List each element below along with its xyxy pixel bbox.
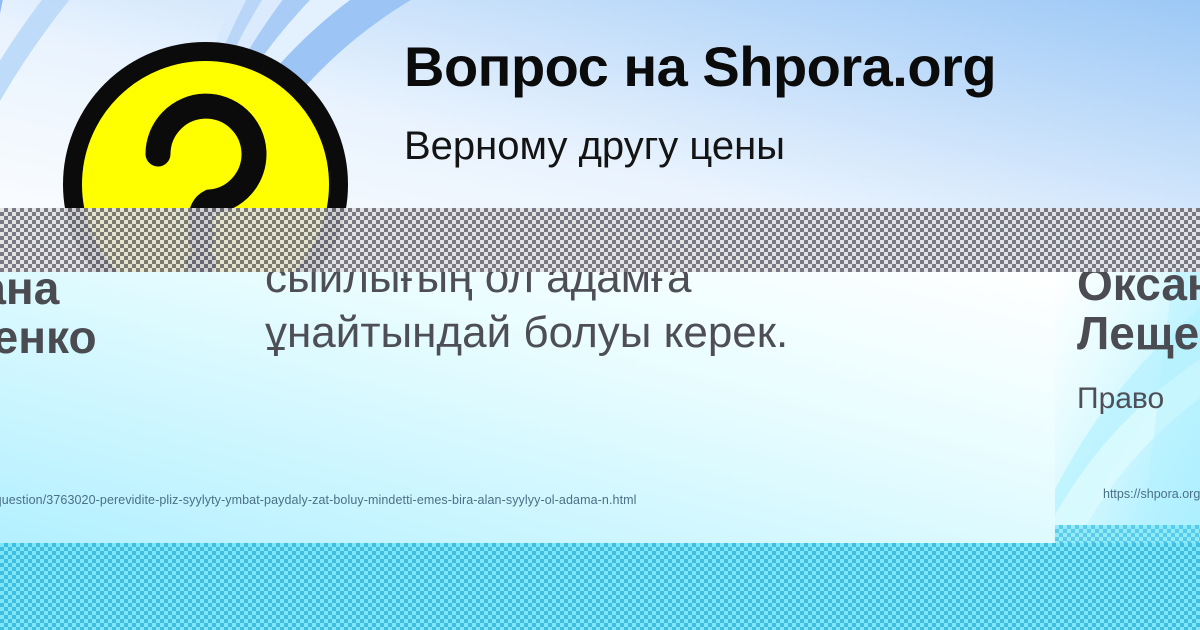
left-author-info: Оксана Лещенко Право xyxy=(0,272,226,418)
left-question-url[interactable]: https://shpora.org/question/3763020-pere… xyxy=(0,493,637,507)
right-author-topic: Право xyxy=(1077,382,1200,416)
right-author-info: Оксана Лещенко Право xyxy=(1077,272,1200,416)
screenshot-stage: Вопрос на Shpora.org Верному другу цены xyxy=(0,0,1200,630)
cyan-transparency-band xyxy=(0,543,1200,630)
question-body-line2: ұнайтындай болуы керек. xyxy=(265,305,1025,360)
question-body-line1: сыйлығың ол адамға xyxy=(265,272,1025,305)
left-author-name-line2: Лещенко xyxy=(0,313,226,362)
right-author-name-line1: Оксана xyxy=(1077,272,1200,309)
page-title: Вопрос на Shpora.org xyxy=(404,38,1164,97)
question-subtitle: Верному другу цены xyxy=(404,123,1164,169)
cyan-band-notch xyxy=(1055,525,1200,545)
question-body-text: сыйлығың ол адамға ұнайтындай болуы кере… xyxy=(265,272,1025,361)
panels-row: Оксана Лещенко Право сыйлығың ол адамға … xyxy=(0,272,1200,543)
header-text-block: Вопрос на Shpora.org Верному другу цены xyxy=(404,38,1164,169)
left-author-panel: Оксана Лещенко Право сыйлығың ол адамға … xyxy=(0,272,1055,543)
grey-transparency-band xyxy=(0,208,1200,272)
right-author-panel: Оксана Лещенко Право https://shpora.org xyxy=(1055,272,1200,543)
right-author-name-line2: Лещенко xyxy=(1077,309,1200,358)
right-question-url[interactable]: https://shpora.org xyxy=(1103,487,1200,501)
left-author-name-line1: Оксана xyxy=(0,272,226,313)
left-author-topic: Право xyxy=(0,384,226,418)
